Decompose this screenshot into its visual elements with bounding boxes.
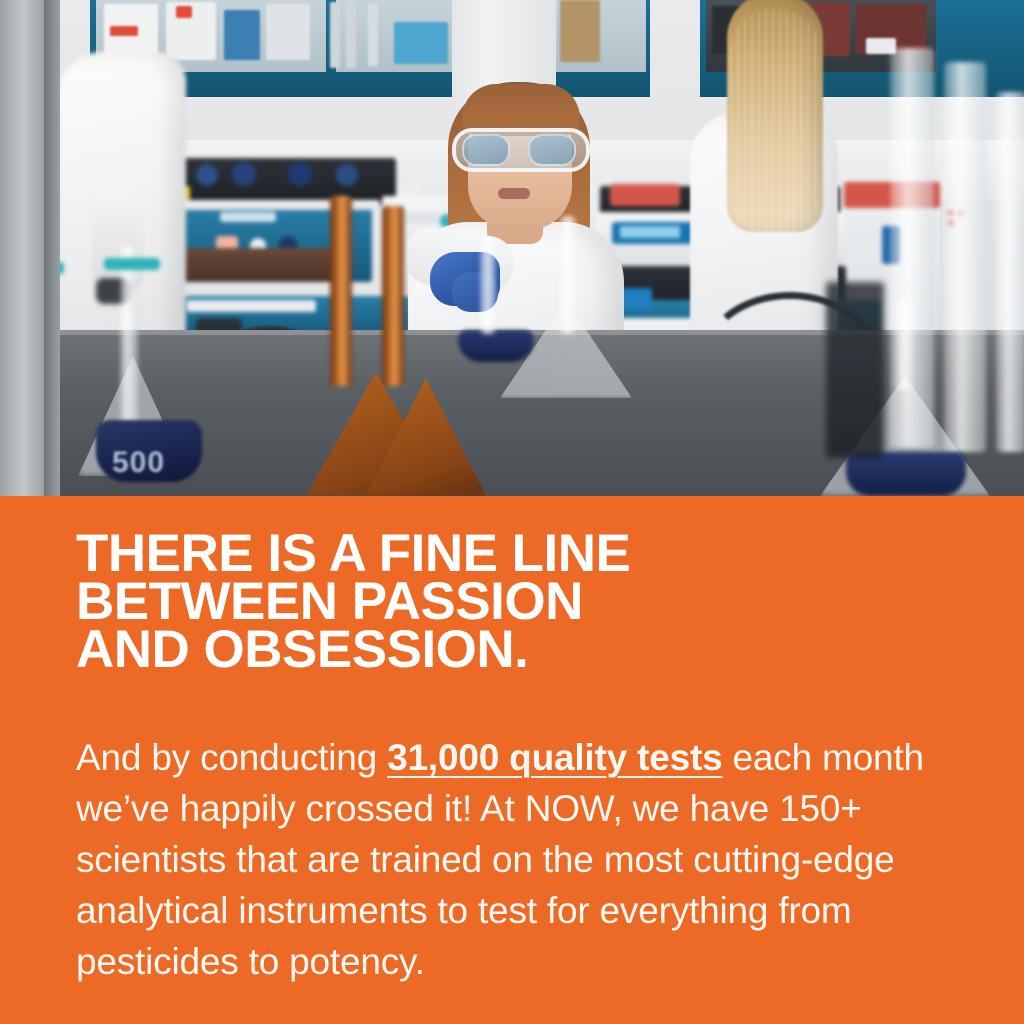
page-title: THERE IS A FINE LINE BETWEEN PASSION AND… [76,530,956,674]
door-frame-inner [44,0,60,496]
lab-photo: 500 [0,0,1024,496]
headline-line-1: THERE IS A FINE LINE [76,530,956,578]
goggle-lens-left [462,134,510,166]
headline-line-2: BETWEEN PASSION [76,578,956,626]
headline-line-3: AND OBSESSION. [76,626,956,674]
quality-tests-highlight: 31,000 quality tests [387,737,722,778]
orange-text-panel: THERE IS A FINE LINE BETWEEN PASSION AND… [0,496,1024,1024]
goggle-lens-right [528,134,576,166]
body-paragraph: And by conducting 31,000 quality tests e… [76,732,946,987]
body-text-part-1: And by conducting [76,737,387,778]
promotional-poster: 500 THERE IS A FINE LINE [0,0,1024,1024]
flask-500-label: 500 [112,446,165,480]
